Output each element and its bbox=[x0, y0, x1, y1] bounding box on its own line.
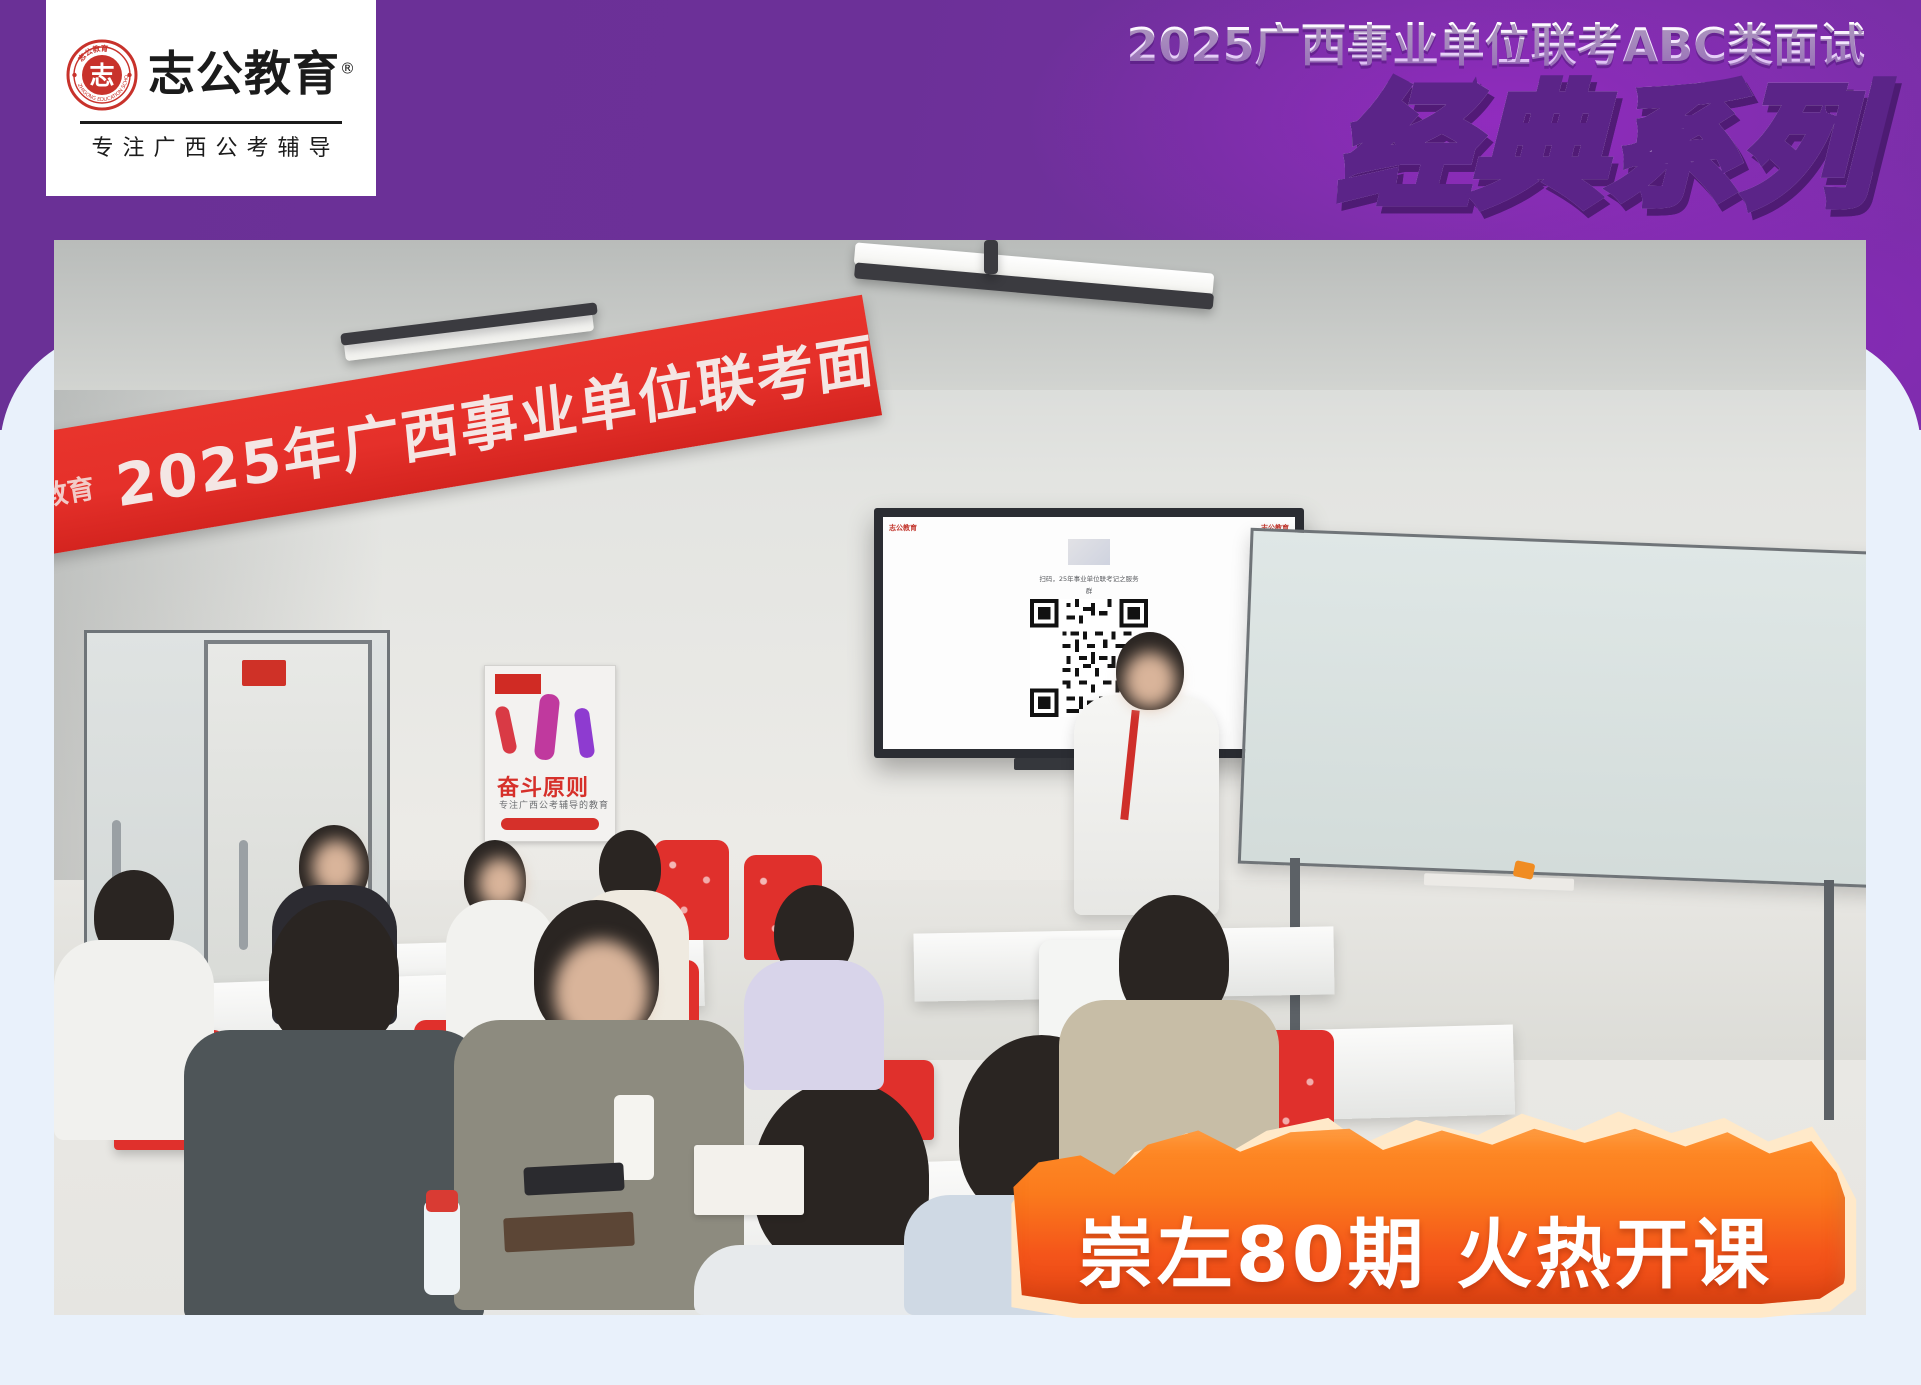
desk-notebook-1 bbox=[503, 1212, 635, 1253]
tv-corner-label-left: 志公教育 bbox=[889, 523, 917, 533]
runner-figure-3-icon bbox=[574, 707, 596, 759]
desk-bottle-1 bbox=[424, 1200, 460, 1295]
runner-figure-2-icon bbox=[534, 693, 561, 761]
desk-bottle-cap bbox=[426, 1190, 458, 1212]
whiteboard bbox=[1238, 528, 1866, 889]
svg-text:志: 志 bbox=[89, 61, 114, 90]
tv-slide-logo bbox=[1068, 539, 1110, 565]
whiteboard-leg-right bbox=[1824, 880, 1834, 1120]
desk-papers-1 bbox=[694, 1145, 804, 1215]
course-status-badge: 崇左80期 火热开课 bbox=[985, 1105, 1865, 1320]
runner-figure-1-icon bbox=[494, 705, 518, 755]
brand-logo-card: 志 志公教育 ZHIGONG EDUCATION SCHOOL 志公教育® 专注… bbox=[46, 0, 376, 196]
wall-poster-footer-bar bbox=[501, 818, 599, 830]
brand-logo-wordmark: 志公教育® bbox=[148, 51, 356, 98]
wall-poster: 奋斗原则 专注广西公考辅导的教育 bbox=[484, 665, 616, 842]
desk-phone-1 bbox=[523, 1162, 624, 1195]
student-head-5 bbox=[269, 900, 399, 1050]
brand-logo-name: 志公教育 bbox=[148, 47, 340, 102]
wall-poster-subtitle: 专注广西公考辅导的教育 bbox=[499, 798, 609, 811]
badge-text: 崇左80期 火热开课 bbox=[985, 1193, 1865, 1303]
registered-mark: ® bbox=[340, 59, 356, 77]
banner-mini-text: 公教育 bbox=[54, 466, 97, 518]
headline-eyebrow: 2025广西事业单位联考ABC类面试 bbox=[1127, 22, 1865, 68]
logo-divider bbox=[80, 121, 342, 124]
brand-tagline: 专注广西公考辅导 bbox=[82, 130, 339, 162]
promo-poster: 志 志公教育 ZHIGONG EDUCATION SCHOOL 志公教育® 专注… bbox=[0, 0, 1921, 1385]
photo-door-handle bbox=[239, 840, 248, 950]
ceiling-light-rail-3 bbox=[984, 240, 998, 274]
teacher-face bbox=[1124, 652, 1176, 708]
tv-caption-line1: 扫码，25年事业单位联考记之服务 bbox=[1039, 573, 1138, 583]
zhigong-seal-icon: 志 志公教育 ZHIGONG EDUCATION SCHOOL bbox=[66, 39, 138, 111]
wall-poster-logo bbox=[495, 674, 541, 694]
teacher-body bbox=[1074, 695, 1219, 915]
brand-logo-row: 志 志公教育 ZHIGONG EDUCATION SCHOOL 志公教育® bbox=[66, 39, 356, 111]
headline-title: 经典系列 bbox=[1337, 82, 1873, 214]
student-body-9 bbox=[744, 960, 884, 1090]
tv-caption-line2: 群 bbox=[1086, 585, 1093, 595]
exit-sign-icon bbox=[242, 660, 286, 686]
